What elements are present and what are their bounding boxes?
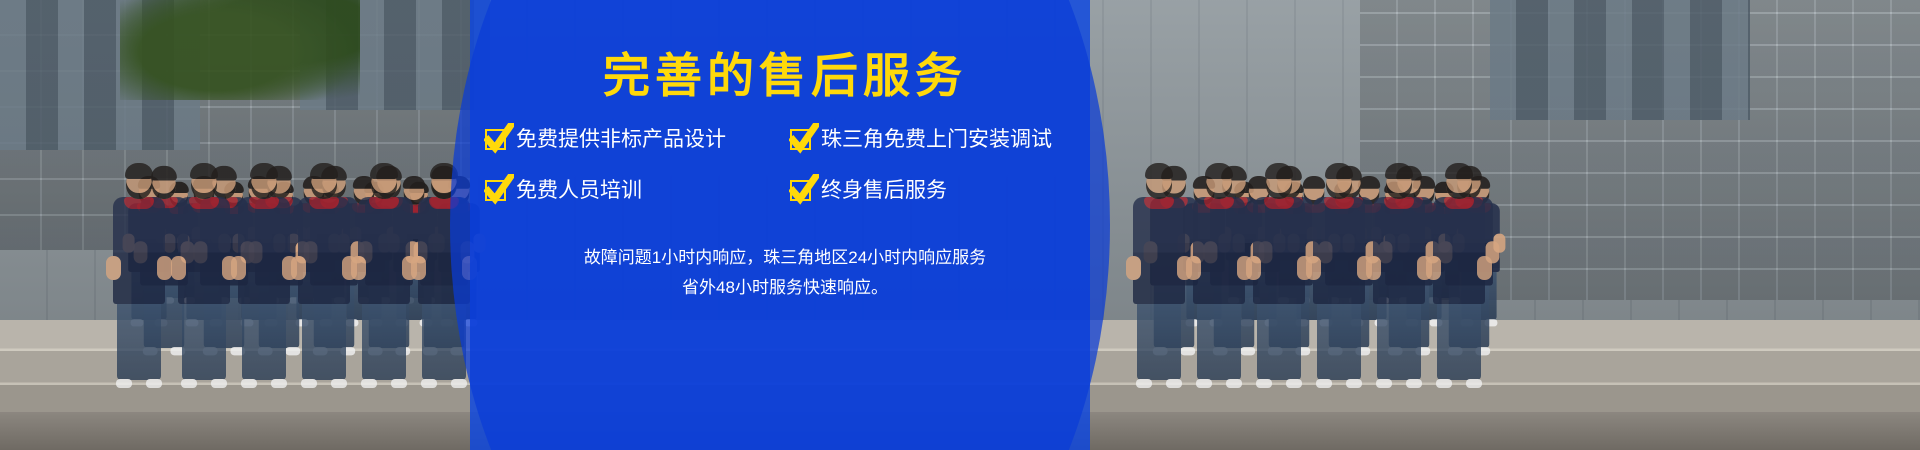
feature-item-2[interactable]: 珠三角免费上门安装调试 — [790, 129, 1085, 150]
staff-member — [1310, 175, 1368, 380]
feature-label: 终身售后服务 — [821, 180, 947, 201]
feature-item-3[interactable]: 免费人员培训 — [485, 180, 780, 201]
banner-content: 完善的售后服务 免费提供非标产品设计 珠三角免费上门安装调试 免费人员培训 — [470, 0, 1100, 450]
feature-label: 免费人员培训 — [516, 180, 642, 201]
staff-member — [1430, 175, 1488, 380]
checkbox-checked-icon — [790, 180, 811, 201]
feature-label: 免费提供非标产品设计 — [516, 129, 726, 150]
checkbox-checked-icon — [790, 129, 811, 150]
staff-member — [1250, 175, 1308, 380]
description-line-1: 故障问题1小时内响应，珠三角地区24小时内响应服务 — [505, 243, 1065, 273]
feature-list: 免费提供非标产品设计 珠三角免费上门安装调试 免费人员培训 终身售后服务 — [485, 129, 1085, 201]
staff-member — [235, 175, 293, 380]
staff-member — [295, 175, 353, 380]
staff-member — [1130, 175, 1188, 380]
checkbox-checked-icon — [485, 180, 506, 201]
staff-member — [1370, 175, 1428, 380]
description-line-2: 省外48小时服务快速响应。 — [505, 273, 1065, 303]
staff-member — [110, 175, 168, 380]
feature-item-4[interactable]: 终身售后服务 — [790, 180, 1085, 201]
staff-member — [175, 175, 233, 380]
feature-item-1[interactable]: 免费提供非标产品设计 — [485, 129, 780, 150]
staff-member — [355, 175, 413, 380]
page-title: 完善的售后服务 — [603, 52, 967, 99]
feature-label: 珠三角免费上门安装调试 — [821, 129, 1052, 150]
service-description: 故障问题1小时内响应，珠三角地区24小时内响应服务 省外48小时服务快速响应。 — [505, 243, 1065, 303]
checkbox-checked-icon — [485, 129, 506, 150]
service-banner: 完善的售后服务 免费提供非标产品设计 珠三角免费上门安装调试 免费人员培训 — [0, 0, 1920, 450]
staff-member — [1190, 175, 1248, 380]
